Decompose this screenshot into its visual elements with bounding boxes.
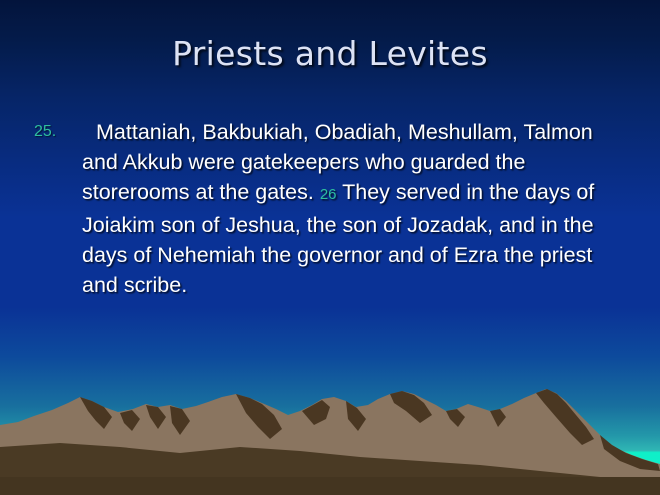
presentation-slide: Priests and Levites 25. Mattaniah, Bakbu… xyxy=(0,0,660,495)
foreground-base xyxy=(0,477,660,495)
inline-verse-number-marker: 26 xyxy=(320,186,337,203)
verse-number-marker: 25. xyxy=(34,117,82,147)
slide-title: Priests and Levites xyxy=(0,34,660,73)
slide-body: 25. Mattaniah, Bakbukiah, Obadiah, Meshu… xyxy=(34,117,626,300)
mountain-landscape-graphic xyxy=(0,385,660,495)
verse-body-text: Mattaniah, Bakbukiah, Obadiah, Meshullam… xyxy=(82,117,626,300)
verse-paragraph: 25. Mattaniah, Bakbukiah, Obadiah, Meshu… xyxy=(34,117,626,300)
